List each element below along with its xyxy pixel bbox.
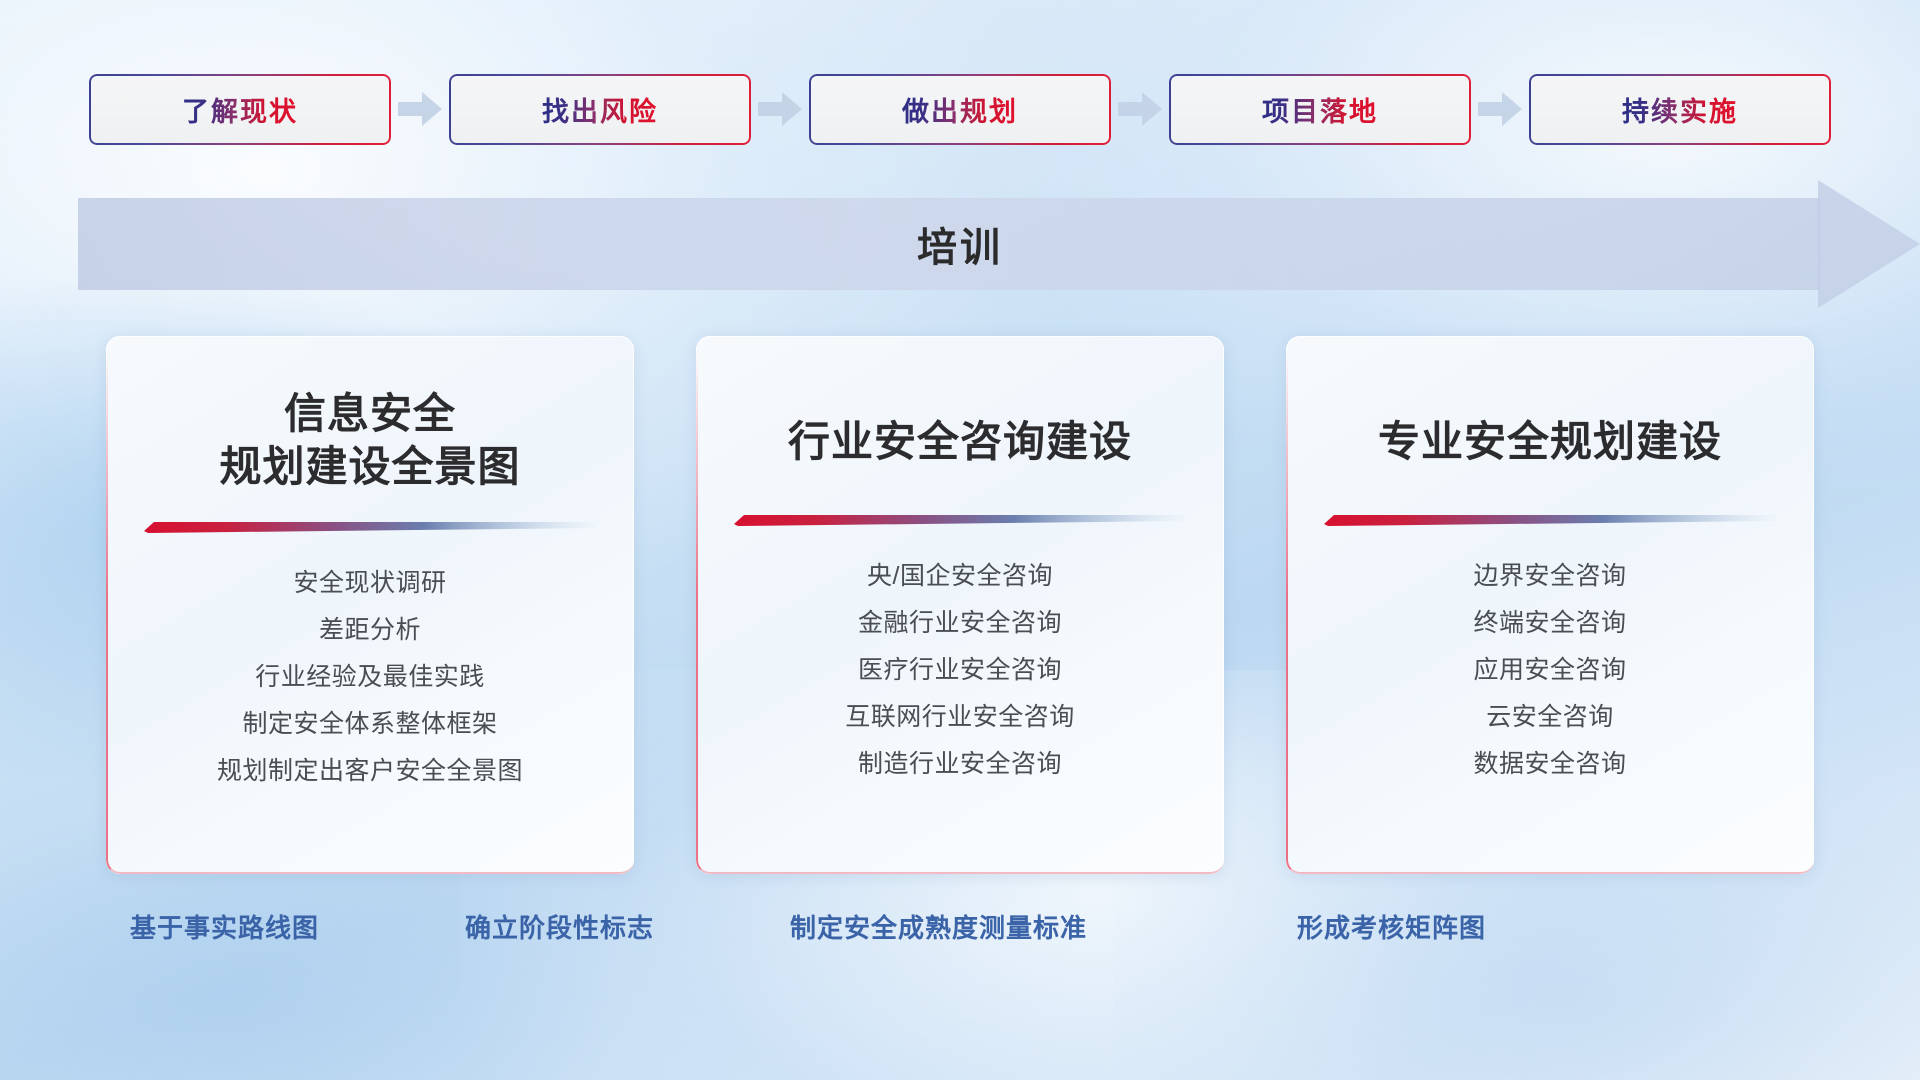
step-label-2: 找出风险 [542,90,658,129]
card-list-1: 安全现状调研差距分析行业经验及最佳实践制定安全体系整体框架规划制定出客户安全全景… [136,560,604,795]
footnote-row: 基于事实路线图确立阶段性标志制定安全成熟度测量标准形成考核矩阵图 [0,908,1920,962]
card-row: 信息安全 规划建设全景图安全现状调研差距分析行业经验及最佳实践制定安全体系整体框… [0,336,1920,874]
step-label-1: 了解现状 [182,90,298,129]
step-button-5[interactable]: 持续实施 [1529,74,1831,145]
list-item: 数据安全咨询 [1316,741,1784,788]
step-item-5: 持续实施 [1529,74,1831,145]
arrow-right-icon [751,87,809,131]
list-item: 终端安全咨询 [1316,600,1784,647]
step-label-3: 做出规划 [902,90,1018,129]
list-item: 互联网行业安全咨询 [726,694,1194,741]
training-banner: 培训 [0,198,1920,290]
list-item: 央/国企安全咨询 [726,553,1194,600]
list-item: 边界安全咨询 [1316,553,1784,600]
info-card-3[interactable]: 专业安全规划建设边界安全咨询终端安全咨询应用安全咨询云安全咨询数据安全咨询 [1286,336,1814,874]
step-label-4: 项目落地 [1262,90,1378,129]
list-item: 规划制定出客户安全全景图 [136,748,604,795]
step-label-5: 持续实施 [1622,90,1738,129]
list-item: 医疗行业安全咨询 [726,647,1194,694]
card-title-2: 行业安全咨询建设 [726,394,1194,469]
card-divider-2 [734,513,1186,527]
step-button-4[interactable]: 项目落地 [1169,74,1471,145]
card-title-1: 信息安全 规划建设全景图 [136,388,604,494]
list-item: 制造行业安全咨询 [726,741,1194,788]
list-item: 差距分析 [136,607,604,654]
footnote-label-2: 确立阶段性标志 [465,908,654,945]
card-list-3: 边界安全咨询终端安全咨询应用安全咨询云安全咨询数据安全咨询 [1316,553,1784,788]
step-button-1[interactable]: 了解现状 [89,74,391,145]
list-item: 金融行业安全咨询 [726,600,1194,647]
list-item: 云安全咨询 [1316,694,1784,741]
card-list-2: 央/国企安全咨询金融行业安全咨询医疗行业安全咨询互联网行业安全咨询制造行业安全咨… [726,553,1194,788]
footnote-label-3: 制定安全成熟度测量标准 [790,908,1087,945]
step-button-3[interactable]: 做出规划 [809,74,1111,145]
step-item-4: 项目落地 [1169,74,1529,145]
list-item: 制定安全体系整体框架 [136,701,604,748]
list-item: 应用安全咨询 [1316,647,1784,694]
card-title-3: 专业安全规划建设 [1316,394,1784,469]
footnote-label-4: 形成考核矩阵图 [1297,908,1486,945]
step-item-2: 找出风险 [449,74,809,145]
footnote-label-1: 基于事实路线图 [130,908,319,945]
training-banner-title: 培训 [0,198,1920,290]
info-card-1[interactable]: 信息安全 规划建设全景图安全现状调研差距分析行业经验及最佳实践制定安全体系整体框… [106,336,634,874]
arrow-right-icon [1471,87,1529,131]
info-card-2[interactable]: 行业安全咨询建设央/国企安全咨询金融行业安全咨询医疗行业安全咨询互联网行业安全咨… [696,336,1224,874]
step-button-2[interactable]: 找出风险 [449,74,751,145]
list-item: 安全现状调研 [136,560,604,607]
list-item: 行业经验及最佳实践 [136,654,604,701]
process-step-row: 了解现状找出风险做出规划项目落地持续实施 [0,72,1920,146]
arrow-right-icon [391,87,449,131]
arrow-right-icon [1111,87,1169,131]
step-item-3: 做出规划 [809,74,1169,145]
step-item-1: 了解现状 [89,74,449,145]
card-divider-1 [144,520,596,534]
card-divider-3 [1324,513,1776,527]
